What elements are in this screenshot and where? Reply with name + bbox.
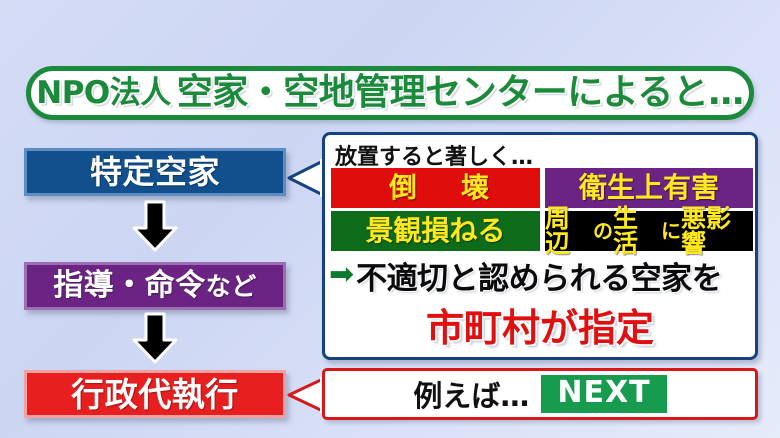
right-arrow-icon: ➡ — [329, 260, 354, 290]
title-lead-text: NPO法人 — [36, 78, 171, 109]
flow-step-label-suffix: など — [206, 274, 257, 299]
tag-eisei-jou-yugai: 衛生上有害 — [545, 168, 753, 208]
title-main-text: 空家・空地管理センターによると… — [177, 75, 744, 111]
tag-shuhen-akueikyou: 周辺の生活に悪影響 — [545, 211, 753, 251]
panel-heading-text: 放置すると著しく… — [335, 139, 533, 171]
slide-canvas: NPO法人 空家・空地管理センターによると… 特定空家 指導・命令など 行政代執… — [0, 0, 780, 438]
flow-step-label: 特定空家 — [90, 156, 220, 188]
down-arrow-icon-2 — [131, 312, 179, 364]
panel-conclusion-line-2: 市町村が指定 — [325, 297, 755, 352]
flow-step-label: 指導・命令 — [53, 271, 206, 301]
next-callout: 例えば… NEXT — [322, 368, 758, 420]
callout-pointer-tail — [287, 376, 327, 414]
callout-text: 例えば… — [413, 373, 529, 415]
title-banner: NPO法人 空家・空地管理センターによると… — [26, 66, 754, 120]
tag-label-c: 生活 — [613, 206, 661, 256]
flow-step-gyousei-daishikkou: 行政代執行 — [24, 370, 286, 418]
tag-toukai-char-2: 壊 — [461, 174, 490, 202]
tag-label-d: に — [661, 221, 681, 241]
detail-panel: 放置すると著しく… 倒壊 衛生上有害 景観損ねる 周辺の生活に悪影響 ➡ 不適切… — [322, 132, 758, 360]
tag-label-a: 周辺 — [545, 206, 593, 256]
flow-step-tokutei-akiya: 特定空家 — [24, 148, 286, 196]
flow-step-label: 行政代執行 — [71, 378, 239, 411]
tag-keikan-sokoneru: 景観損ねる — [331, 211, 540, 251]
next-badge: NEXT — [541, 375, 666, 413]
panel-pointer-tail — [287, 158, 327, 198]
tag-label: 景観損ねる — [365, 217, 505, 245]
down-arrow-icon-1 — [131, 200, 179, 252]
tag-label: 衛生上有害 — [579, 174, 719, 202]
panel-conclusion-line-1: ➡ 不適切と認められる空家を — [329, 253, 757, 297]
tag-label-e: 悪影響 — [681, 206, 753, 256]
tag-toukai: 倒壊 — [331, 168, 540, 208]
tag-label-b: の — [593, 221, 613, 241]
flow-step-shidou-meirei: 指導・命令など — [24, 262, 286, 310]
panel-conclusion-text: 不適切と認められる空家を — [356, 253, 722, 298]
tag-toukai-char-1: 倒 — [381, 174, 461, 202]
